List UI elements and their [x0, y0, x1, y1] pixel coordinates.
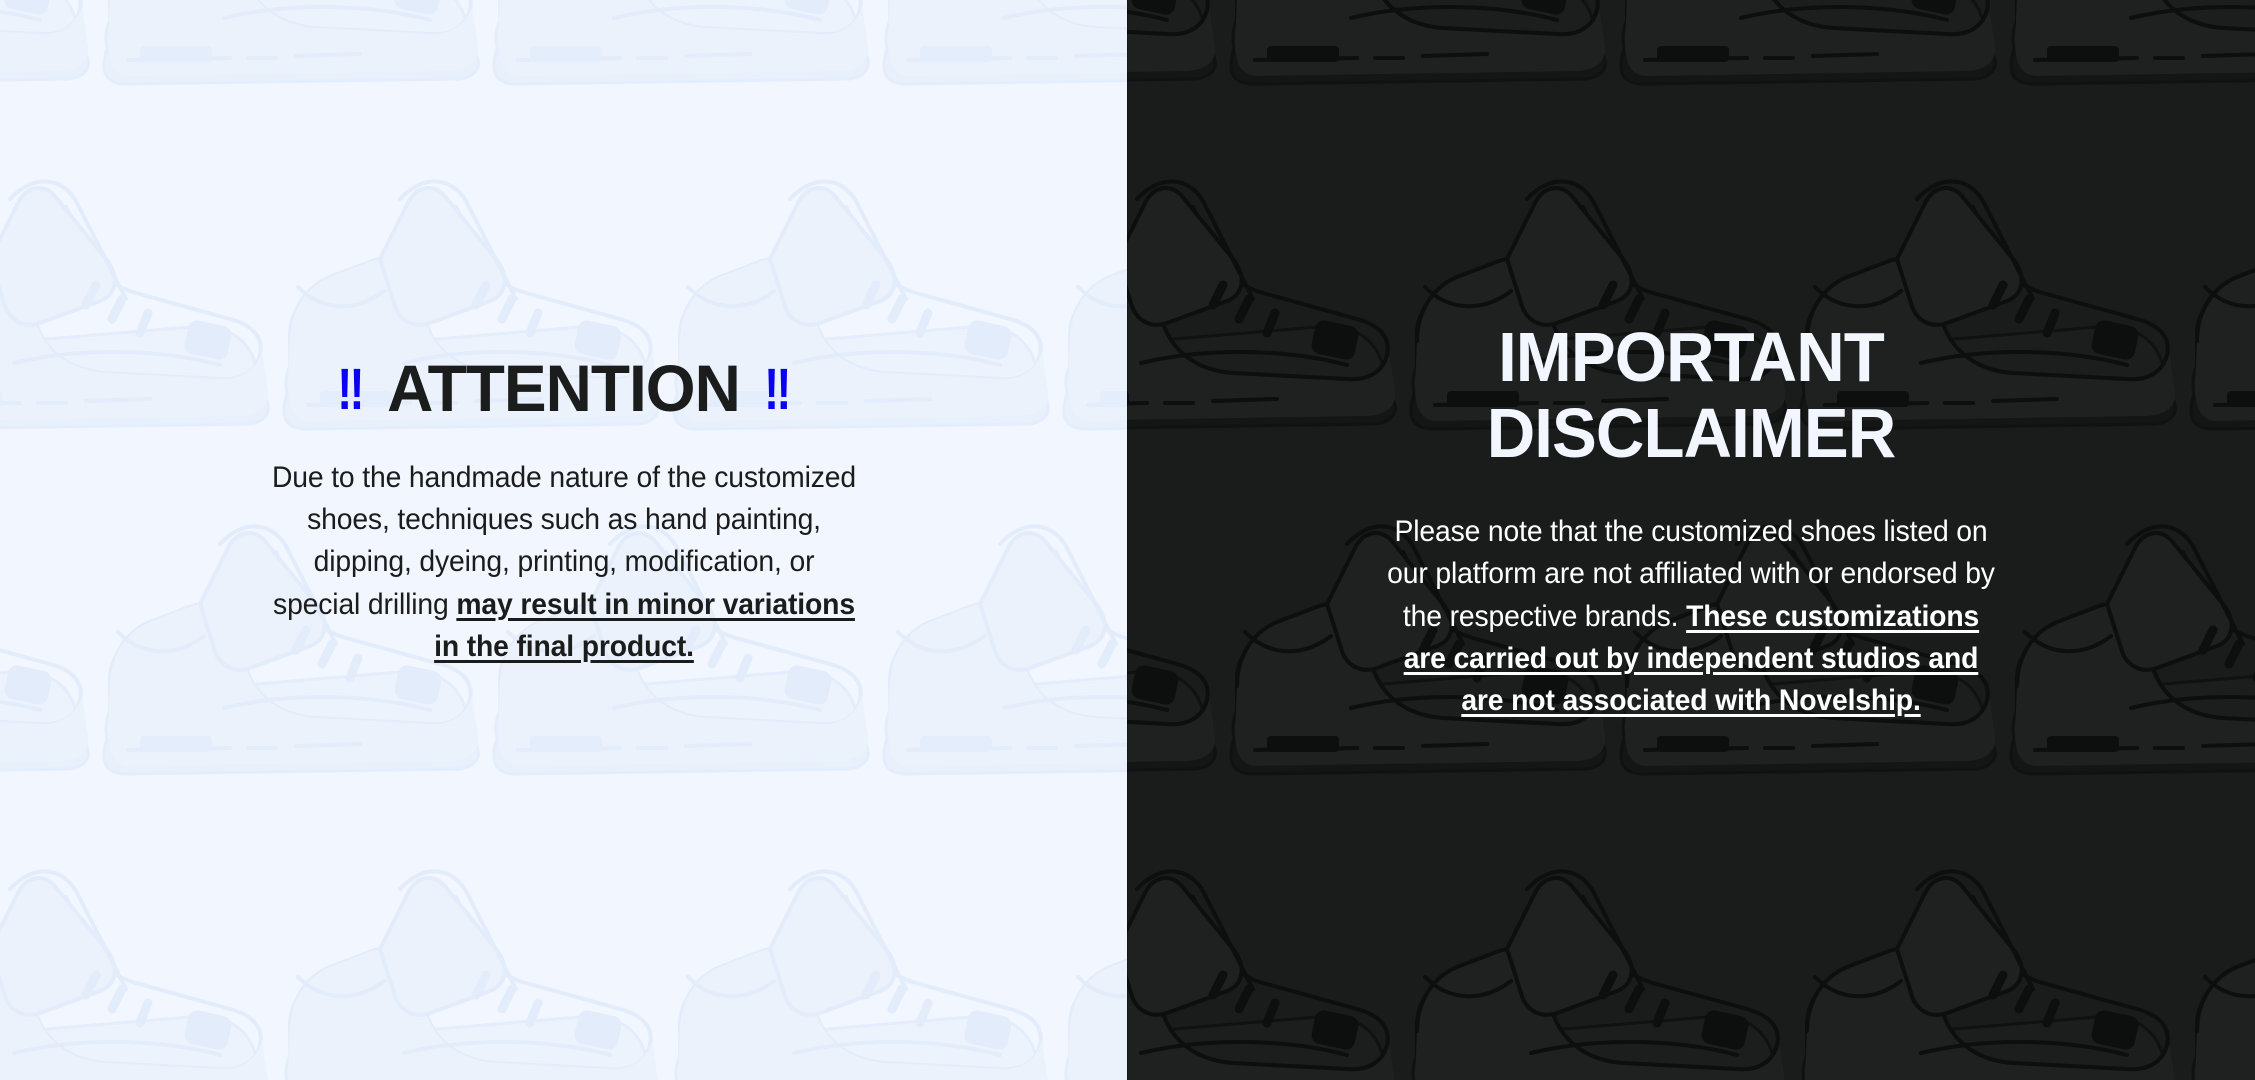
attention-heading-word: ATTENTION: [366, 355, 762, 421]
attention-panel: ‼ATTENTION‼ Due to the handmade nature o…: [0, 0, 1127, 1080]
disclaimer-banner: ‼ATTENTION‼ Due to the handmade nature o…: [0, 0, 2255, 1080]
disclaimer-panel: IMPORTANT DISCLAIMER Please note that th…: [1127, 0, 2255, 1080]
attention-heading: ‼ATTENTION‼: [172, 355, 955, 421]
double-exclamation-left-icon: ‼: [337, 361, 363, 419]
attention-body: Due to the handmade nature of the custom…: [266, 457, 861, 668]
disclaimer-content: IMPORTANT DISCLAIMER Please note that th…: [1127, 0, 2255, 722]
double-exclamation-right-icon: ‼: [764, 361, 790, 419]
attention-content: ‼ATTENTION‼ Due to the handmade nature o…: [0, 0, 1127, 668]
disclaimer-heading-line-1: IMPORTANT: [1498, 318, 1884, 396]
disclaimer-heading-line-2: DISCLAIMER: [1487, 394, 1896, 472]
disclaimer-body: Please note that the customized shoes li…: [1384, 511, 1998, 722]
attention-body-emphasis: may result in minor variations in the fi…: [434, 588, 855, 663]
disclaimer-heading: IMPORTANT DISCLAIMER: [1294, 320, 2089, 471]
